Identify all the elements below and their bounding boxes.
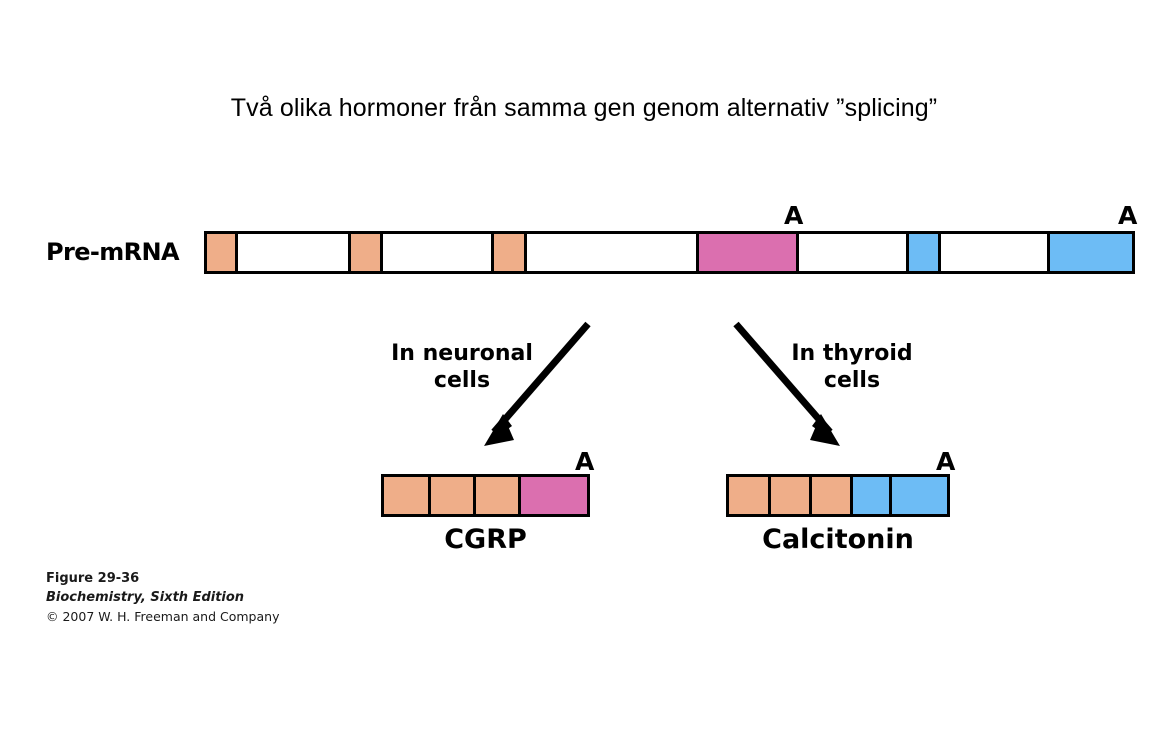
segment-intron-1 bbox=[235, 234, 348, 271]
polyA-marker-premrna-end: A bbox=[1118, 203, 1137, 228]
segment-exon-5-calcitonin-a bbox=[906, 234, 938, 271]
segment-exon-3 bbox=[809, 477, 851, 514]
polyA-marker-calcitonin: A bbox=[936, 449, 955, 474]
segment-exon-3 bbox=[491, 234, 524, 271]
segment-exon-3 bbox=[473, 477, 518, 514]
cgrp-mrna-bar bbox=[381, 474, 590, 517]
segment-exon-1 bbox=[384, 477, 428, 514]
segment-exon-6-calcitonin-b bbox=[889, 477, 947, 514]
segment-exon-4-cgrp bbox=[518, 477, 587, 514]
pathway-caption-neuronal: In neuronal cells bbox=[378, 340, 546, 395]
segment-exon-1 bbox=[729, 477, 768, 514]
premrna-transcript-bar bbox=[204, 231, 1135, 274]
segment-exon-2 bbox=[348, 234, 380, 271]
calcitonin-mrna-bar bbox=[726, 474, 950, 517]
segment-exon-6-calcitonin-b bbox=[1047, 234, 1132, 271]
book-title: Biochemistry, Sixth Edition bbox=[46, 589, 279, 608]
polyA-marker-premrna-mid: A bbox=[784, 203, 803, 228]
polyA-marker-cgrp: A bbox=[575, 449, 594, 474]
figure-credit-block: Figure 29-36 Biochemistry, Sixth Edition… bbox=[46, 570, 279, 626]
segment-exon-1 bbox=[207, 234, 235, 271]
segment-intron-2 bbox=[380, 234, 491, 271]
segment-exon-5-calcitonin-a bbox=[850, 477, 889, 514]
pathway-caption-thyroid: In thyroid cells bbox=[772, 340, 932, 395]
copyright-notice: © 2007 W. H. Freeman and Company bbox=[46, 608, 279, 627]
page-title: Två olika hormoner från samma gen genom … bbox=[0, 94, 1168, 123]
segment-exon-2 bbox=[768, 477, 809, 514]
segment-intron-4 bbox=[796, 234, 906, 271]
product-label-cgrp: CGRP bbox=[381, 524, 590, 555]
product-label-calcitonin: Calcitonin bbox=[726, 524, 950, 555]
segment-exon-2 bbox=[428, 477, 473, 514]
segment-intron-5 bbox=[938, 234, 1047, 271]
segment-intron-3 bbox=[524, 234, 696, 271]
figure-number: Figure 29-36 bbox=[46, 570, 279, 589]
premrna-label: Pre-mRNA bbox=[46, 238, 179, 266]
segment-exon-4-cgrp bbox=[696, 234, 795, 271]
